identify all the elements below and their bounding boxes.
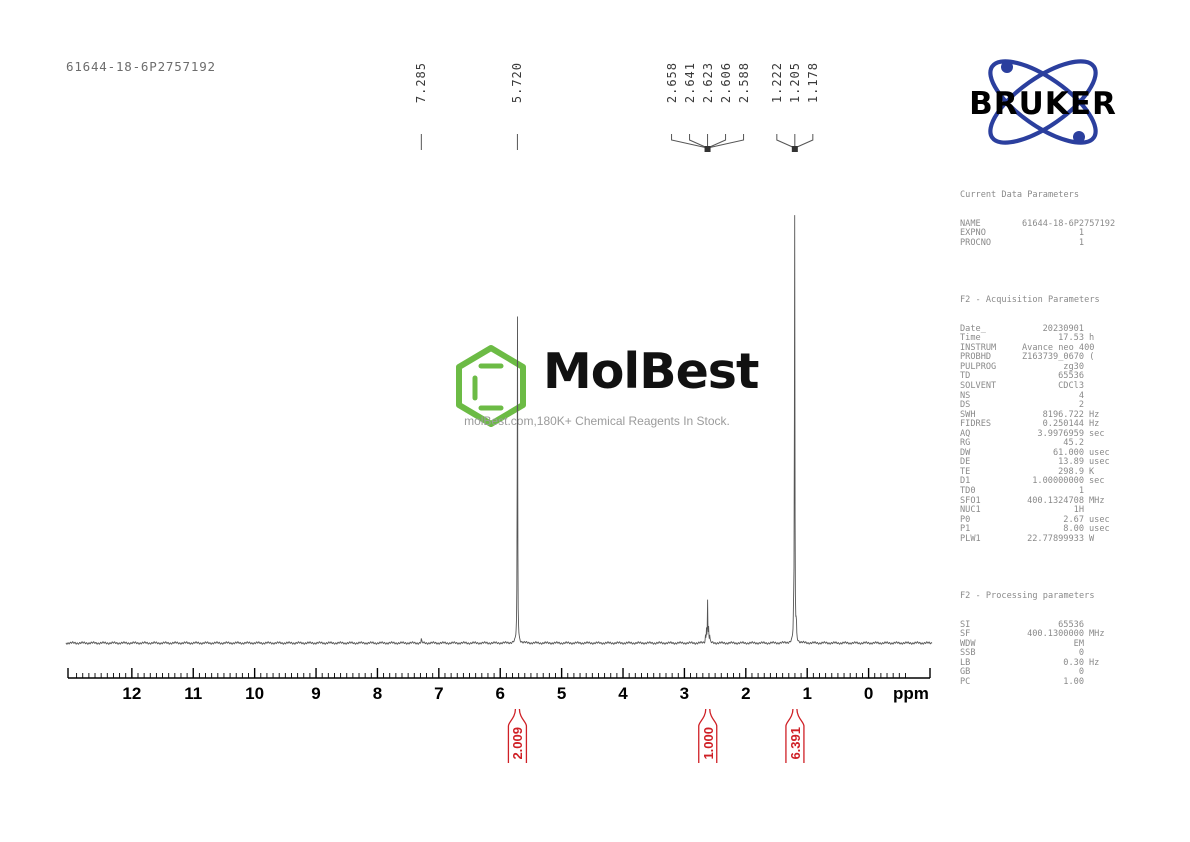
peak-label-1.205: 1.205 bbox=[788, 62, 802, 103]
peak-label-2.606: 2.606 bbox=[719, 62, 733, 103]
ppm-axis bbox=[68, 668, 930, 678]
axis-tick-label-3: 3 bbox=[664, 684, 704, 704]
axis-unit-label: ppm bbox=[893, 684, 929, 704]
integral-value-2.009: 2.009 bbox=[510, 727, 525, 760]
peak-label-1.222: 1.222 bbox=[770, 62, 784, 103]
integral-curves bbox=[508, 709, 804, 763]
peak-label-2.641: 2.641 bbox=[683, 62, 697, 103]
axis-tick-label-5: 5 bbox=[542, 684, 582, 704]
integral-value-6.391: 6.391 bbox=[788, 727, 803, 760]
axis-tick-label-0: 0 bbox=[849, 684, 889, 704]
axis-tick-label-6: 6 bbox=[480, 684, 520, 704]
peak-label-1.178: 1.178 bbox=[806, 62, 820, 103]
axis-tick-label-10: 10 bbox=[235, 684, 275, 704]
axis-tick-label-2: 2 bbox=[726, 684, 766, 704]
axis-tick-label-4: 4 bbox=[603, 684, 643, 704]
integral-value-1.000: 1.000 bbox=[701, 727, 716, 760]
axis-tick-label-12: 12 bbox=[112, 684, 152, 704]
peak-label-2.658: 2.658 bbox=[665, 62, 679, 103]
peak-label-5.720: 5.720 bbox=[510, 62, 524, 103]
peak-label-ticks bbox=[421, 134, 812, 152]
axis-tick-label-9: 9 bbox=[296, 684, 336, 704]
axis-tick-label-1: 1 bbox=[787, 684, 827, 704]
spectrum-trace bbox=[66, 215, 932, 644]
axis-tick-label-7: 7 bbox=[419, 684, 459, 704]
nmr-spectrum-plot bbox=[0, 0, 1190, 842]
peak-label-2.588: 2.588 bbox=[737, 62, 751, 103]
peak-label-2.623: 2.623 bbox=[701, 62, 715, 103]
axis-tick-label-11: 11 bbox=[173, 684, 213, 704]
peak-label-7.285: 7.285 bbox=[414, 62, 428, 103]
axis-tick-label-8: 8 bbox=[357, 684, 397, 704]
